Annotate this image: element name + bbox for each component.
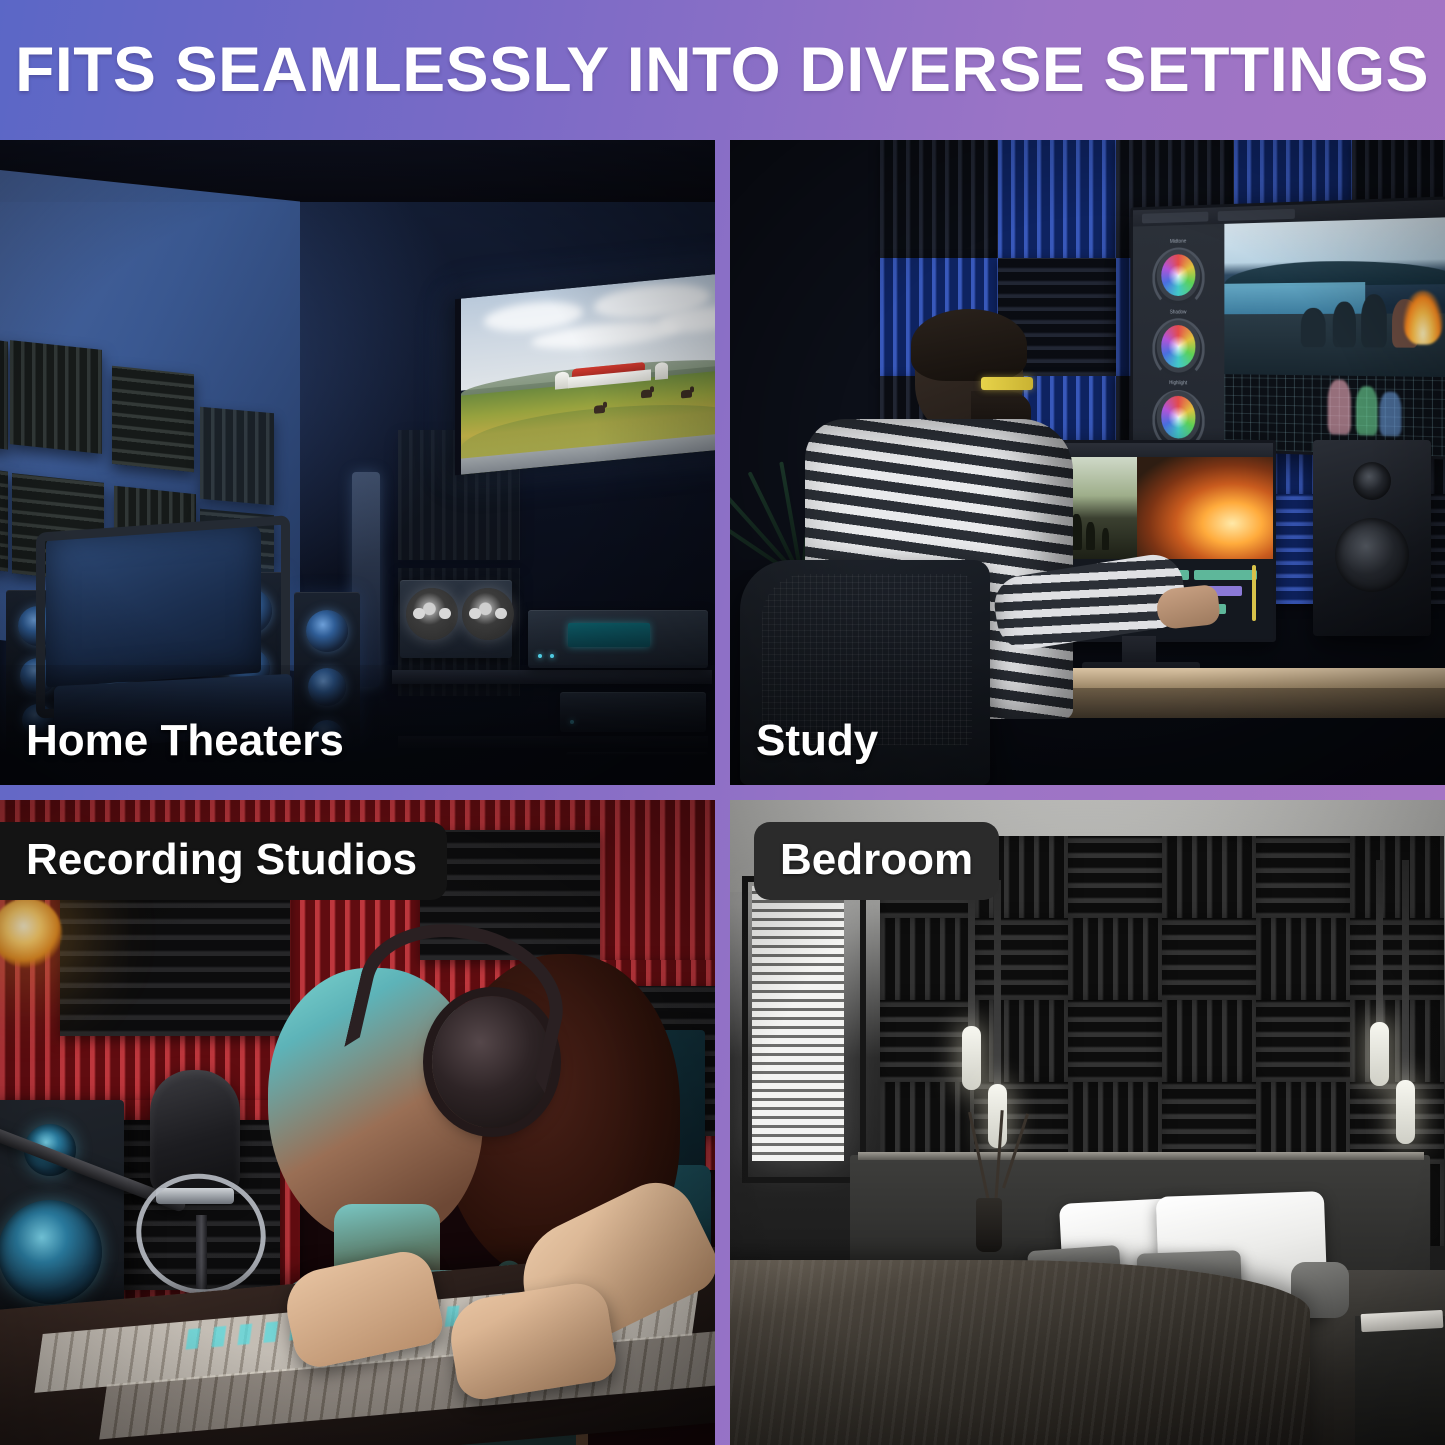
- acoustic-foam-panel: [1350, 836, 1444, 918]
- status-led: [538, 654, 542, 658]
- av-receiver: [528, 610, 708, 668]
- color-wheel-midtone: [1161, 254, 1196, 297]
- silo: [655, 361, 669, 380]
- acoustic-foam-panel: [1068, 1000, 1162, 1082]
- wheel-label-shadow: Shadow: [1170, 310, 1187, 316]
- acoustic-foam-panel: [1350, 1000, 1444, 1082]
- speaker-woofer: [0, 1200, 102, 1304]
- silo: [555, 371, 569, 390]
- pendant-bulb: [1396, 1080, 1415, 1144]
- panel-recording-studios[interactable]: Recording Studios: [0, 800, 715, 1445]
- pendant-light: [994, 880, 1001, 1148]
- panel-label-study: Study: [756, 719, 878, 763]
- acoustic-foam-panel: [1350, 918, 1444, 1000]
- pendant-light: [968, 880, 975, 1090]
- vase: [976, 1198, 1002, 1252]
- acoustic-foam-panel: [0, 338, 8, 449]
- acoustic-foam-panel: [974, 918, 1068, 1000]
- pendant-light: [1376, 860, 1383, 1086]
- panel-label-home-theaters: Home Theaters: [26, 719, 344, 763]
- hair: [911, 309, 1027, 381]
- speaker-woofer: [1335, 518, 1409, 592]
- pendant-bulb: [1370, 1022, 1389, 1086]
- acoustic-foam-panel: [1162, 918, 1256, 1000]
- eyeglasses: [981, 377, 1033, 390]
- marketing-poster: FITS SEAMLESSLY INTO DIVERSE SETTINGS: [0, 0, 1445, 1445]
- timeline-clip: [1194, 570, 1257, 580]
- hand-on-mouse: [1155, 584, 1221, 630]
- color-wheel-shadow: [1161, 325, 1196, 367]
- app-tab: [1142, 211, 1209, 223]
- acoustic-foam-panel: [880, 1000, 974, 1082]
- acoustic-foam-panel: [974, 1000, 1068, 1082]
- settings-grid: Home Theaters: [0, 140, 1445, 1445]
- tape-reel: [406, 588, 458, 640]
- playhead: [1252, 565, 1256, 621]
- acoustic-foam-panel: [1162, 836, 1256, 918]
- color-wheel-highlight: [1161, 396, 1196, 439]
- blanket: [730, 1260, 1310, 1445]
- acoustic-foam-panel: [1068, 836, 1162, 918]
- page-title: FITS SEAMLESSLY INTO DIVERSE SETTINGS: [16, 34, 1430, 106]
- scope-trace: [1356, 386, 1377, 435]
- panel-label-recording-studios: Recording Studios: [0, 822, 447, 900]
- person: [1300, 307, 1325, 347]
- acoustic-foam-panel: [1256, 1000, 1350, 1082]
- horse: [641, 389, 652, 398]
- acoustic-foam-panel: [200, 407, 274, 505]
- nightstand: [1355, 1316, 1445, 1445]
- speaker-tweeter: [1353, 462, 1391, 500]
- scope-trace: [1328, 380, 1351, 435]
- acoustic-foam-panel: [1068, 918, 1162, 1000]
- color-grading-panel: Midtone Shadow Highlight: [1133, 224, 1224, 449]
- tape-reel: [462, 588, 514, 640]
- acoustic-foam-panel: [10, 340, 102, 454]
- panel-bedroom[interactable]: Bedroom: [730, 800, 1445, 1445]
- horse: [594, 404, 605, 413]
- studio-monitor-speaker: [1313, 440, 1431, 636]
- wheel-label-highlight: Highlight: [1169, 381, 1187, 387]
- panel-home-theater[interactable]: Home Theaters: [0, 140, 715, 785]
- acoustic-foam-panel: [998, 140, 1116, 258]
- receiver-display: [568, 623, 651, 647]
- wheel-label-midtone: Midtone: [1170, 239, 1186, 245]
- person: [1361, 295, 1387, 348]
- panel-label-bedroom: Bedroom: [754, 822, 999, 900]
- panel-study[interactable]: Midtone Shadow Highlight: [730, 140, 1445, 785]
- acoustic-foam-panel: [880, 140, 998, 258]
- acoustic-foam-panel: [112, 366, 194, 473]
- projection-screen: [455, 271, 715, 476]
- acoustic-foam-panel: [1256, 918, 1350, 1000]
- pendant-bulb: [962, 1026, 981, 1090]
- condenser-microphone: [150, 1070, 270, 1235]
- headboard-rail: [858, 1152, 1424, 1160]
- speaker-driver: [306, 610, 348, 652]
- person: [1333, 301, 1356, 348]
- acoustic-foam-panel: [1256, 836, 1350, 918]
- window-frame: [742, 876, 866, 1183]
- color-grading-monitor: Midtone Shadow Highlight: [1130, 196, 1445, 460]
- scope-trace: [1380, 392, 1402, 436]
- horse: [681, 389, 692, 398]
- acoustic-foam-panel: [1162, 1000, 1256, 1082]
- program-preview: [1137, 457, 1273, 559]
- header-banner: FITS SEAMLESSLY INTO DIVERSE SETTINGS: [0, 0, 1445, 140]
- pendant-light: [1402, 860, 1409, 1144]
- campfire: [1404, 291, 1443, 345]
- video-preview: [1224, 217, 1445, 377]
- pendant-bulb: [988, 1084, 1007, 1148]
- acoustic-foam-panel: [880, 918, 974, 1000]
- status-led: [550, 654, 554, 658]
- acoustic-foam-panel: [0, 468, 8, 571]
